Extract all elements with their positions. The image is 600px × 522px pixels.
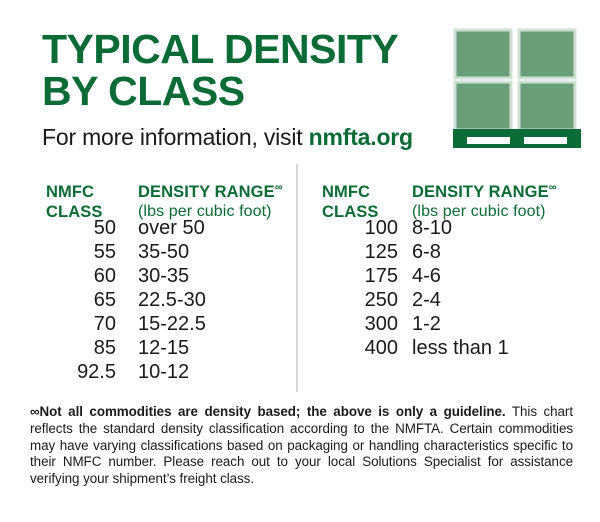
header: TYPICAL DENSITY BY CLASS For more inform… xyxy=(0,0,600,160)
table-header-left: NMFC CLASS DENSITY RANGE∞ (lbs per cubic… xyxy=(30,160,292,212)
cell-nmfc-class: 60 xyxy=(30,264,116,288)
cell-nmfc-class: 175 xyxy=(302,264,398,288)
column-divider xyxy=(296,164,298,392)
cell-nmfc-class: 92.5 xyxy=(30,360,116,384)
cell-density-range: 30-35 xyxy=(138,264,189,288)
density-table-right: NMFC CLASS DENSITY RANGE∞ (lbs per cubic… xyxy=(312,160,590,360)
cell-density-range: 22.5-30 xyxy=(138,288,206,312)
cell-density-range: 8-10 xyxy=(412,216,452,240)
cell-nmfc-class: 55 xyxy=(30,240,116,264)
nmfta-link[interactable]: nmfta.org xyxy=(309,124,413,150)
table-row: 100 8-10 xyxy=(312,216,590,240)
table-rows-left: 50 over 50 55 35-50 60 30-35 65 22.5-30 … xyxy=(30,216,292,384)
cell-density-range: 10-12 xyxy=(138,360,189,384)
table-row: 400 less than 1 xyxy=(312,336,590,360)
cell-density-range: 6-8 xyxy=(412,240,441,264)
cell-density-range: less than 1 xyxy=(412,336,509,360)
table-rows-right: 100 8-10 125 6-8 175 4-6 250 2-4 300 1 xyxy=(312,216,590,360)
header-density-range-superscript: ∞ xyxy=(275,182,283,194)
header-nmfc-class-line1: NMFC xyxy=(46,183,94,201)
cell-nmfc-class: 125 xyxy=(302,240,398,264)
table-row: 175 4-6 xyxy=(312,264,590,288)
cell-density-range: 12-15 xyxy=(138,336,189,360)
density-by-class-infographic: TYPICAL DENSITY BY CLASS For more inform… xyxy=(0,0,600,522)
table-row: 85 12-15 xyxy=(30,336,292,360)
subtitle: For more information, visit nmfta.org xyxy=(42,124,413,150)
table-header-right: NMFC CLASS DENSITY RANGE∞ (lbs per cubic… xyxy=(312,160,590,212)
cell-density-range: 1-2 xyxy=(412,312,441,336)
header-nmfc-class-line1: NMFC xyxy=(322,183,370,201)
table-row: 92.5 10-12 xyxy=(30,360,292,384)
subtitle-prefix: For more information, visit xyxy=(42,124,309,150)
cell-density-range: 15-22.5 xyxy=(138,312,206,336)
cell-density-range: 4-6 xyxy=(412,264,441,288)
table-row: 300 1-2 xyxy=(312,312,590,336)
table-row: 125 6-8 xyxy=(312,240,590,264)
table-row: 65 22.5-30 xyxy=(30,288,292,312)
pallet-with-boxes-icon xyxy=(453,28,583,148)
cell-nmfc-class: 70 xyxy=(30,312,116,336)
table-row: 70 15-22.5 xyxy=(30,312,292,336)
header-density-range-superscript: ∞ xyxy=(549,182,557,194)
cell-nmfc-class: 300 xyxy=(302,312,398,336)
cell-density-range: over 50 xyxy=(138,216,205,240)
cell-nmfc-class: 85 xyxy=(30,336,116,360)
cell-density-range: 35-50 xyxy=(138,240,189,264)
cell-nmfc-class: 250 xyxy=(302,288,398,312)
footnote-symbol: ∞ xyxy=(30,404,40,419)
header-density-range-line1: DENSITY RANGE xyxy=(412,183,549,201)
page-title: TYPICAL DENSITY BY CLASS xyxy=(42,28,442,112)
cell-density-range: 2-4 xyxy=(412,288,441,312)
cell-nmfc-class: 50 xyxy=(30,216,116,240)
footnote: ∞Not all commodities are density based; … xyxy=(30,404,573,488)
cell-nmfc-class: 65 xyxy=(30,288,116,312)
cell-nmfc-class: 400 xyxy=(302,336,398,360)
density-table-left: NMFC CLASS DENSITY RANGE∞ (lbs per cubic… xyxy=(30,160,292,384)
table-row: 55 35-50 xyxy=(30,240,292,264)
table-row: 250 2-4 xyxy=(312,288,590,312)
density-tables: NMFC CLASS DENSITY RANGE∞ (lbs per cubic… xyxy=(0,160,600,398)
cell-nmfc-class: 100 xyxy=(302,216,398,240)
table-row: 60 30-35 xyxy=(30,264,292,288)
footnote-lead: Not all commodities are density based; t… xyxy=(40,404,506,419)
header-density-range-line1: DENSITY RANGE xyxy=(138,183,275,201)
table-row: 50 over 50 xyxy=(30,216,292,240)
